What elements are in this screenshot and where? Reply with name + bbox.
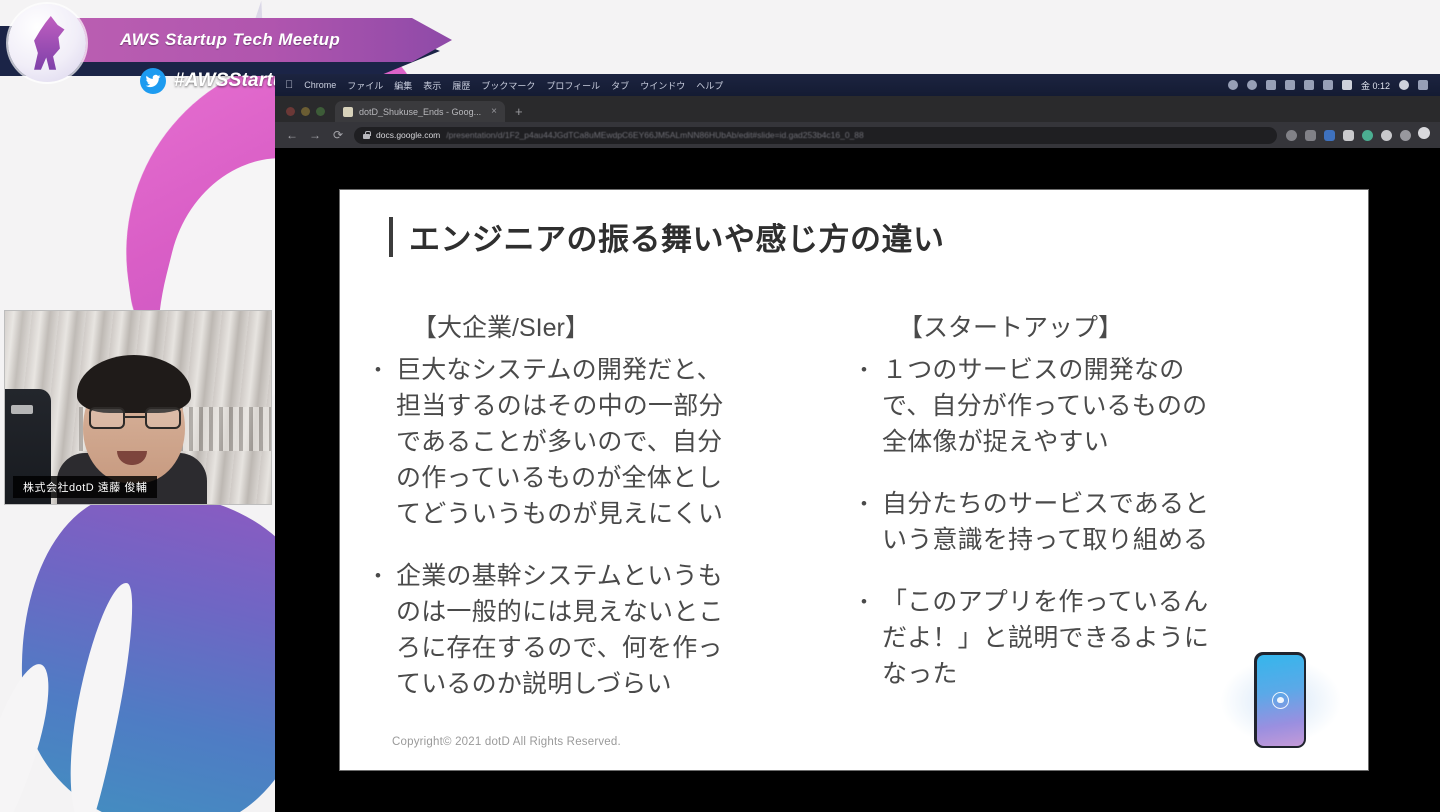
bullet-text: 巨大なシステムの開発だと、 担当するのはその中の一部分 であることが多いので、自… — [396, 352, 724, 532]
browser-tab-active[interactable]: dotD_Shukuse_Ends - Goog... × — [335, 101, 505, 122]
app-icon-white[interactable] — [1343, 130, 1354, 141]
menubar-clock[interactable]: 金 0:12 — [1361, 79, 1390, 92]
reload-button[interactable]: ⟳ — [331, 128, 345, 142]
address-bar[interactable]: docs.google.com /presentation/d/1F2_p4au… — [354, 127, 1277, 144]
bullet-marker-icon: • — [856, 486, 872, 558]
menu-item-help[interactable]: ヘルプ — [696, 79, 723, 92]
glasses-icon — [89, 407, 181, 429]
slides-favicon — [343, 107, 353, 117]
slide-columns: 【大企業/SIer】 • 巨大なシステムの開発だと、 担当するのはその中の一部分… — [370, 308, 1342, 728]
screen-capture: AWS Startup Tech Meetup #AWSStartup 株式会社… — [0, 0, 1440, 812]
cloud-icon[interactable] — [1304, 80, 1314, 90]
glasses-lens-left — [89, 407, 125, 429]
tab-strip: dotD_Shukuse_Ends - Goog... × + — [275, 96, 1440, 122]
macos-menubar[interactable]:  Chrome ファイル 編集 表示 履歴 ブックマーク プロフィール タブ … — [275, 74, 1440, 96]
forward-button[interactable]: → — [308, 128, 322, 142]
menubar-status-area[interactable]: 金 0:12 — [1228, 79, 1440, 92]
bullet-text: １つのサービスの開発なの で、自分が作っているものの 全体像が捉えやすい — [882, 352, 1207, 460]
menu-item-history[interactable]: 履歴 — [452, 79, 470, 92]
app-icon-blue[interactable] — [1324, 130, 1335, 141]
volume-icon[interactable] — [1266, 80, 1276, 90]
menu-item-profiles[interactable]: プロフィール — [546, 79, 600, 92]
menu-item-chrome[interactable]: Chrome — [304, 80, 336, 90]
slide-copyright: Copyright© 2021 dotD All Rights Reserved… — [392, 736, 621, 748]
maximize-window-button[interactable] — [316, 107, 325, 116]
extension-icon[interactable] — [1305, 130, 1316, 141]
menu-item-view[interactable]: 表示 — [423, 79, 441, 92]
url-path: /presentation/d/1F2_p4au44JGdTCa8uMEwdpC… — [446, 130, 1268, 140]
url-host: docs.google.com — [376, 130, 440, 140]
glasses-lens-right — [145, 407, 181, 429]
bullet-item: • 企業の基幹システムというも のは一般的には見えないとこ ろに存在するので、何… — [370, 558, 842, 702]
bullet-marker-icon: • — [856, 584, 872, 692]
phone-mockup-image — [1254, 652, 1306, 748]
glasses-bridge — [125, 416, 145, 418]
apple-menu-icon[interactable]:  — [285, 79, 293, 91]
minimize-window-button[interactable] — [301, 107, 310, 116]
menu-item-edit[interactable]: 編集 — [394, 79, 412, 92]
column-heading-startup: 【スタートアップ】 — [898, 308, 1328, 344]
menu-item-tab[interactable]: タブ — [611, 79, 629, 92]
column-heading-enterprise: 【大企業/SIer】 — [412, 308, 842, 344]
browser-toolbar: ← → ⟳ docs.google.com /presentation/d/1F… — [275, 122, 1440, 148]
slide-title-block: エンジニアの振る舞いや感じ方の違い — [389, 214, 945, 259]
presentation-slide: エンジニアの振る舞いや感じ方の違い 【大企業/SIer】 • 巨大なシステムの開… — [339, 189, 1369, 771]
search-icon[interactable] — [1399, 80, 1409, 90]
bullet-text: 企業の基幹システムというも のは一般的には見えないとこ ろに存在するので、何を作… — [396, 558, 724, 702]
lock-icon — [363, 131, 370, 139]
bullet-marker-icon: • — [370, 558, 386, 702]
menu-item-bookmarks[interactable]: ブックマーク — [481, 79, 535, 92]
slide-title: エンジニアの振る舞いや感じ方の違い — [409, 214, 945, 259]
hashtag-row: #AWSStartup — [140, 68, 297, 94]
app-icon-green[interactable] — [1362, 130, 1373, 141]
toolbar-icons[interactable]: ⋮ — [1286, 130, 1430, 141]
bullet-item: • 自分たちのサービスであると いう意識を持って取り組める — [856, 486, 1328, 558]
window-controls[interactable] — [275, 107, 335, 122]
battery-icon[interactable] — [1342, 80, 1352, 90]
bullet-marker-icon: • — [370, 352, 386, 532]
display-icon[interactable] — [1285, 80, 1295, 90]
speaker-webcam: 株式会社dotD 遠藤 俊輔 — [4, 310, 272, 505]
chrome-window: dotD_Shukuse_Ends - Goog... × + ← → ⟳ do… — [275, 96, 1440, 812]
speaker-name-caption: 株式会社dotD 遠藤 俊輔 — [13, 476, 157, 498]
bullet-marker-icon: • — [856, 352, 872, 460]
back-button[interactable]: ← — [285, 128, 299, 142]
banner-bar: AWS Startup Tech Meetup — [52, 18, 452, 62]
cloud-app-icon — [1272, 692, 1289, 709]
control-center-icon[interactable] — [1418, 80, 1428, 90]
close-tab-button[interactable]: × — [491, 106, 497, 117]
title-accent-bar — [389, 217, 393, 257]
menubar-items[interactable]:  Chrome ファイル 編集 表示 履歴 ブックマーク プロフィール タブ … — [275, 79, 723, 92]
bullet-item: • 巨大なシステムの開発だと、 担当するのはその中の一部分 であることが多いので… — [370, 352, 842, 532]
phone-screen — [1257, 655, 1304, 746]
banner-title: AWS Startup Tech Meetup — [120, 30, 340, 50]
unicorn-logo-icon — [8, 4, 86, 82]
close-window-button[interactable] — [286, 107, 295, 116]
app-icon-cloud[interactable] — [1381, 130, 1392, 141]
logo-horse-glyph — [28, 16, 66, 72]
phone-body — [1254, 652, 1306, 748]
profile-avatar[interactable] — [1400, 130, 1411, 141]
slides-presentation-viewer[interactable]: エンジニアの振る舞いや感じ方の違い 【大企業/SIer】 • 巨大なシステムの開… — [275, 148, 1440, 812]
presenter-indicator-icon — [1418, 127, 1430, 139]
menu-item-window[interactable]: ウインドウ — [640, 79, 685, 92]
new-tab-button[interactable]: + — [505, 104, 533, 122]
twitter-bird-icon — [140, 68, 166, 94]
menu-item-file[interactable]: ファイル — [347, 79, 383, 92]
column-enterprise: 【大企業/SIer】 • 巨大なシステムの開発だと、 担当するのはその中の一部分… — [370, 308, 842, 728]
bluetooth-icon[interactable] — [1247, 80, 1257, 90]
tab-title: dotD_Shukuse_Ends - Goog... — [359, 107, 485, 117]
search-icon[interactable] — [1286, 130, 1297, 141]
bullet-text: 自分たちのサービスであると いう意識を持って取り組める — [882, 486, 1209, 558]
wifi-icon[interactable] — [1228, 80, 1238, 90]
bullet-text: 「このアプリを作っているん だよ！」と説明できるように なった — [882, 584, 1209, 692]
bullet-item: • １つのサービスの開発なの で、自分が作っているものの 全体像が捉えやすい — [856, 352, 1328, 460]
grid-icon[interactable] — [1323, 80, 1333, 90]
